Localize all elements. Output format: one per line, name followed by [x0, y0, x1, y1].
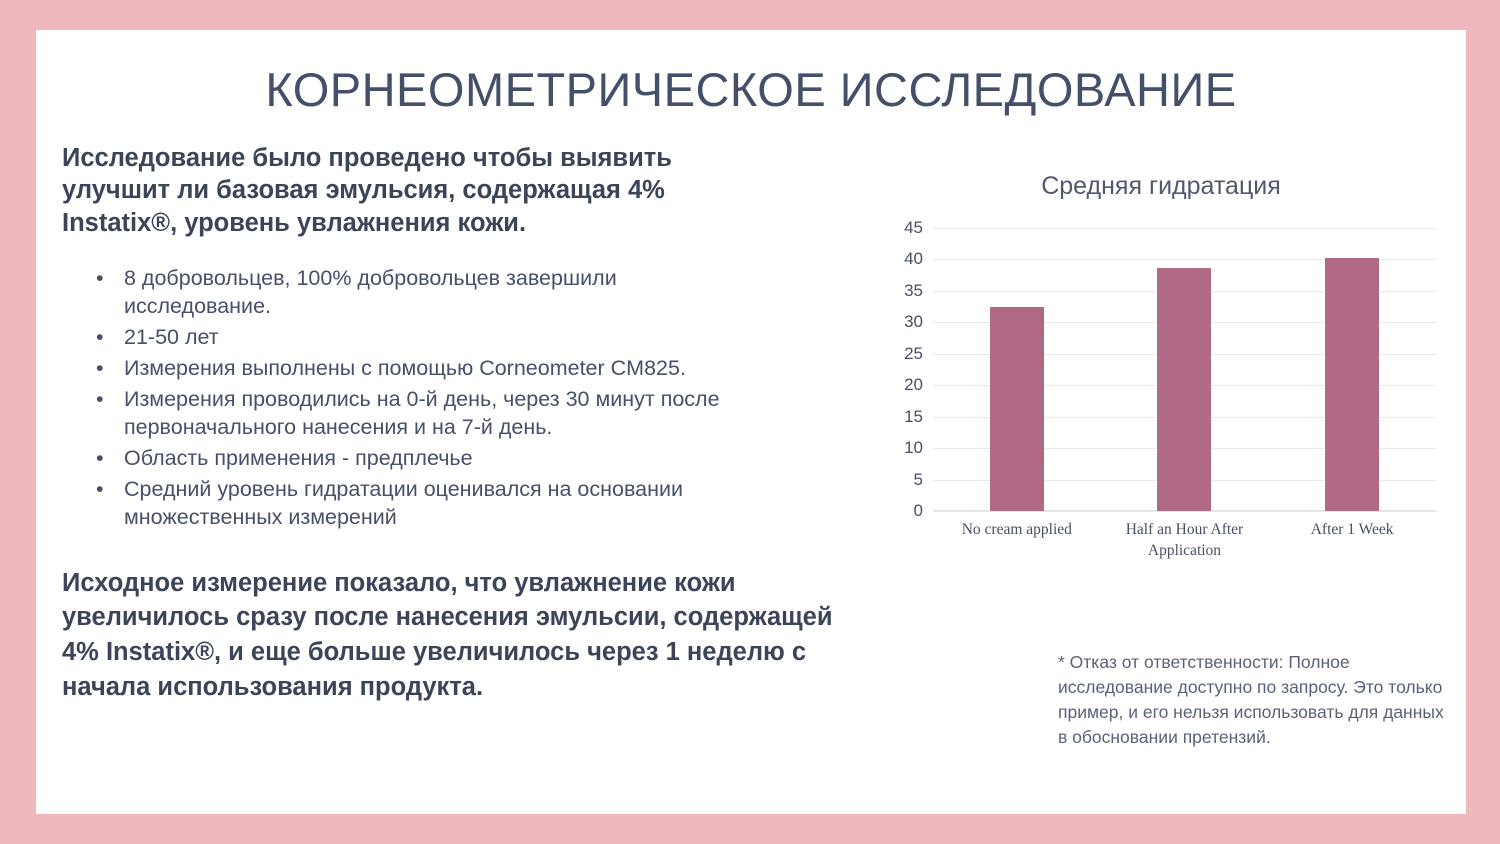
study-bullet-list: • 8 добровольцев, 100% добровольцев заве…: [62, 265, 762, 531]
y-tick-label: 5: [914, 470, 923, 490]
disclaimer-text: * Отказ от ответственности: Полное иссле…: [1058, 650, 1444, 749]
x-tick-label: After 1 Week: [1268, 520, 1436, 541]
bullet-dot-icon: •: [96, 324, 104, 352]
chart-bar[interactable]: [1325, 258, 1379, 511]
y-axis-ticks: 454035302520151050: [881, 228, 923, 511]
list-item: • Средний уровень гидратации оценивался …: [62, 476, 762, 532]
page-title: КОРНЕОМЕТРИЧЕСКОЕ ИССЛЕДОВАНИЕ: [36, 62, 1466, 117]
gridline: [933, 511, 1436, 512]
chart-bar[interactable]: [990, 307, 1044, 511]
y-tick-label: 10: [904, 438, 923, 458]
y-tick-label: 30: [904, 312, 923, 332]
list-item-label: 21-50 лет: [124, 325, 219, 349]
list-item: • 8 добровольцев, 100% добровольцев заве…: [62, 265, 762, 321]
chart-bar[interactable]: [1157, 268, 1211, 511]
y-tick-label: 15: [904, 407, 923, 427]
bar-slot: [1101, 228, 1269, 511]
bullet-dot-icon: •: [96, 386, 104, 414]
chart-plot-wrapper: 454035302520151050 No cream appliedHalf …: [881, 228, 1441, 528]
y-tick-label: 25: [904, 344, 923, 364]
list-item: • Область применения - предплечье: [62, 445, 762, 473]
list-item-label: 8 добровольцев, 100% добровольцев заверш…: [124, 266, 617, 318]
list-item-label: Средний уровень гидратации оценивался на…: [124, 477, 683, 529]
y-tick-label: 20: [904, 375, 923, 395]
y-tick-label: 0: [914, 501, 923, 521]
plot-area: [933, 228, 1436, 511]
y-tick-label: 45: [904, 218, 923, 238]
list-item-label: Область применения - предплечье: [124, 446, 473, 470]
bullet-dot-icon: •: [96, 445, 104, 473]
bars-layer: [933, 228, 1436, 511]
list-item: • 21-50 лет: [62, 324, 762, 352]
list-item-label: Измерения проводились на 0-й день, через…: [124, 387, 720, 439]
bullet-dot-icon: •: [96, 476, 104, 504]
hydration-bar-chart: Средняя гидратация 454035302520151050 No…: [881, 142, 1461, 602]
list-item-label: Измерения выполнены с помощью Corneomete…: [124, 356, 686, 380]
bullet-dot-icon: •: [96, 355, 104, 383]
list-item: • Измерения выполнены с помощью Corneome…: [62, 355, 762, 383]
y-tick-label: 40: [904, 249, 923, 269]
closing-paragraph: Исходное измерение показало, что увлажне…: [62, 566, 862, 706]
bullet-dot-icon: •: [96, 265, 104, 293]
slide-panel: КОРНЕОМЕТРИЧЕСКОЕ ИССЛЕДОВАНИЕ Исследова…: [36, 30, 1466, 814]
chart-title: Средняя гидратация: [881, 172, 1441, 201]
left-content-column: Исследование было проведено чтобы выявит…: [62, 142, 892, 705]
x-axis-labels: No cream appliedHalf an Hour After Appli…: [933, 520, 1436, 580]
x-tick-label: Half an Hour After Application: [1101, 520, 1269, 562]
lead-paragraph: Исследование было проведено чтобы выявит…: [62, 142, 774, 239]
list-item: • Измерения проводились на 0-й день, чер…: [62, 386, 762, 442]
x-tick-label: No cream applied: [933, 520, 1101, 541]
y-tick-label: 35: [904, 281, 923, 301]
bar-slot: [933, 228, 1101, 511]
bar-slot: [1268, 228, 1436, 511]
